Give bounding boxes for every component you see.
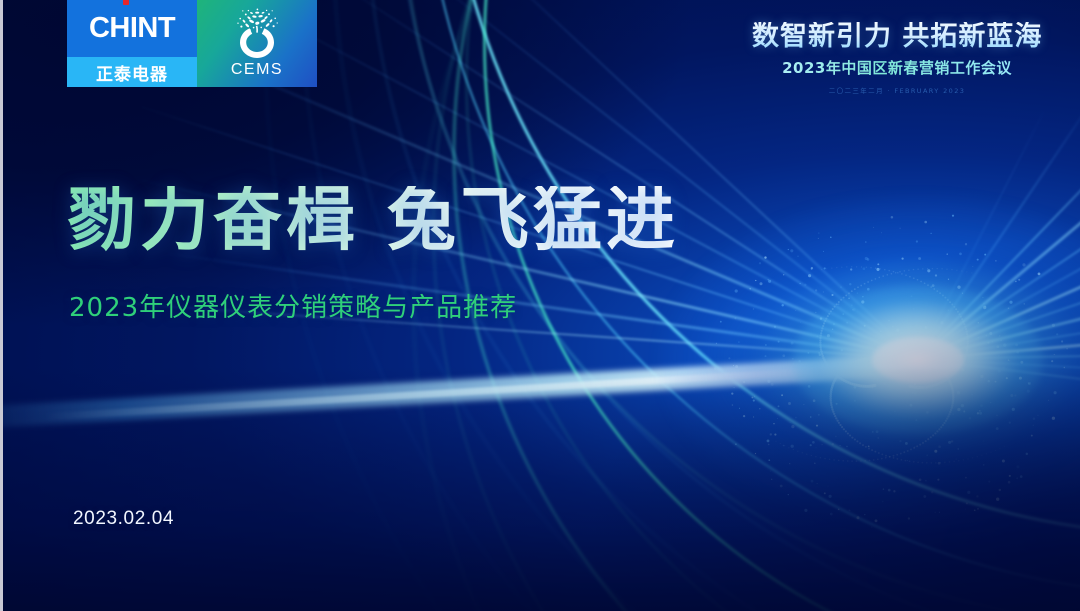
page-title: 勠力奋楫 兔飞猛进: [67, 186, 679, 255]
red-dot-icon: [123, 0, 129, 5]
event-branding-block: 数智新引力 共拓新蓝海 2023年中国区新春营销工作会议 二〇二三年二月 · F…: [752, 22, 1042, 95]
cems-wordmark: CEMS: [231, 61, 283, 79]
chint-chinese-name: 正泰电器: [96, 60, 168, 85]
presentation-slide: CHINT 正泰电器: [0, 0, 1080, 611]
chint-wordmark: CHINT: [89, 14, 175, 43]
event-subheadline: 2023年中国区新春营销工作会议: [752, 57, 1042, 78]
chint-wordmark-panel: CHINT: [67, 0, 197, 57]
event-headline: 数智新引力 共拓新蓝海: [752, 22, 1042, 52]
event-date-line: 二〇二三年二月 · FEBRUARY 2023: [752, 85, 1042, 95]
chint-chinese-panel: 正泰电器: [67, 57, 197, 87]
tree-circle-emblem-icon: [229, 8, 285, 60]
chint-logo[interactable]: CHINT 正泰电器: [67, 0, 197, 87]
cems-logo[interactable]: CEMS: [197, 0, 317, 87]
page-subtitle: 2023年仪器仪表分销策略与产品推荐: [69, 287, 517, 324]
presentation-date: 2023.02.04: [73, 508, 174, 530]
logo-bar: CHINT 正泰电器: [67, 0, 317, 87]
